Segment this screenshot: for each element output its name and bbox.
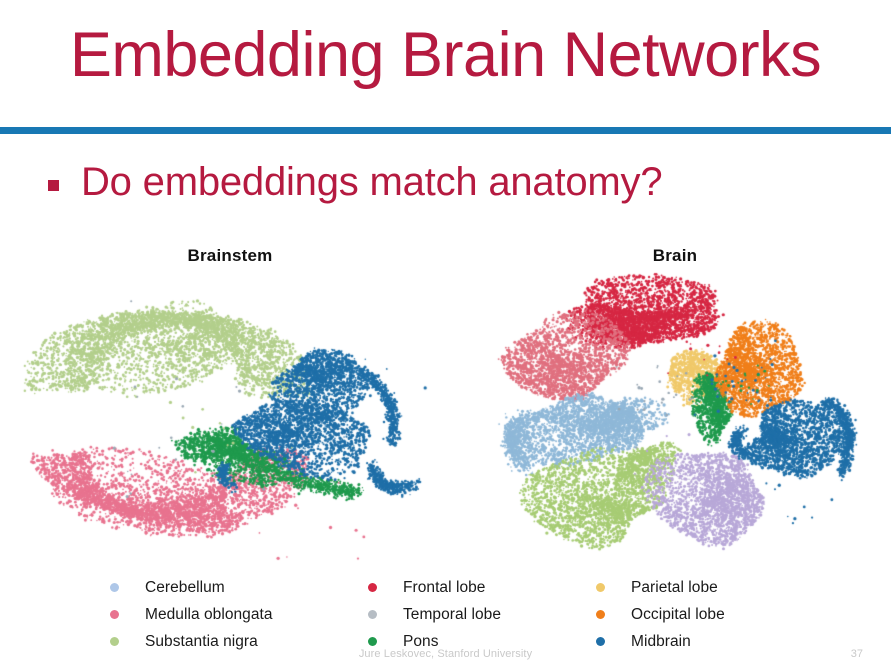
legend-dot-icon: [110, 583, 119, 592]
title-divider: [0, 127, 891, 134]
legend: Cerebellum Medulla oblongata Substantia …: [0, 574, 891, 644]
legend-item-temporal-lobe: Temporal lobe: [368, 601, 501, 628]
page-title: Embedding Brain Networks: [0, 22, 891, 88]
plots-container: Brainstem Brain: [0, 238, 891, 568]
legend-label: Occipital lobe: [631, 606, 725, 624]
legend-column-1: Cerebellum Medulla oblongata Substantia …: [110, 574, 273, 655]
legend-dot-icon: [110, 610, 119, 619]
bullet-text: Do embeddings match anatomy?: [81, 160, 662, 205]
legend-dot-icon: [596, 583, 605, 592]
legend-dot-icon: [596, 610, 605, 619]
plot-title-brainstem: Brainstem: [20, 246, 440, 266]
page-number: 37: [851, 648, 863, 660]
scatter-canvas-brain: [470, 268, 880, 568]
legend-column-2: Frontal lobe Temporal lobe Pons: [368, 574, 501, 655]
footer-credit: Jure Leskovec, Stanford University: [0, 648, 891, 660]
bullet-row: Do embeddings match anatomy?: [48, 160, 662, 205]
legend-item-medulla-oblongata: Medulla oblongata: [110, 601, 273, 628]
legend-item-occipital-lobe: Occipital lobe: [596, 601, 725, 628]
plot-title-brain: Brain: [470, 246, 880, 266]
scatter-plot-brainstem: Brainstem: [20, 238, 440, 568]
legend-item-parietal-lobe: Parietal lobe: [596, 574, 725, 601]
legend-dot-icon: [110, 637, 119, 646]
legend-column-3: Parietal lobe Occipital lobe Midbrain: [596, 574, 725, 655]
legend-label: Frontal lobe: [403, 579, 485, 597]
legend-dot-icon: [368, 583, 377, 592]
legend-dot-icon: [368, 610, 377, 619]
legend-item-frontal-lobe: Frontal lobe: [368, 574, 501, 601]
legend-dot-icon: [368, 637, 377, 646]
legend-label: Parietal lobe: [631, 579, 718, 597]
legend-label: Temporal lobe: [403, 606, 501, 624]
legend-label: Medulla oblongata: [145, 606, 273, 624]
legend-label: Cerebellum: [145, 579, 225, 597]
legend-dot-icon: [596, 637, 605, 646]
legend-item-cerebellum: Cerebellum: [110, 574, 273, 601]
bullet-marker-icon: [48, 180, 59, 191]
scatter-plot-brain: Brain: [470, 238, 880, 568]
scatter-canvas-brainstem: [20, 268, 440, 568]
